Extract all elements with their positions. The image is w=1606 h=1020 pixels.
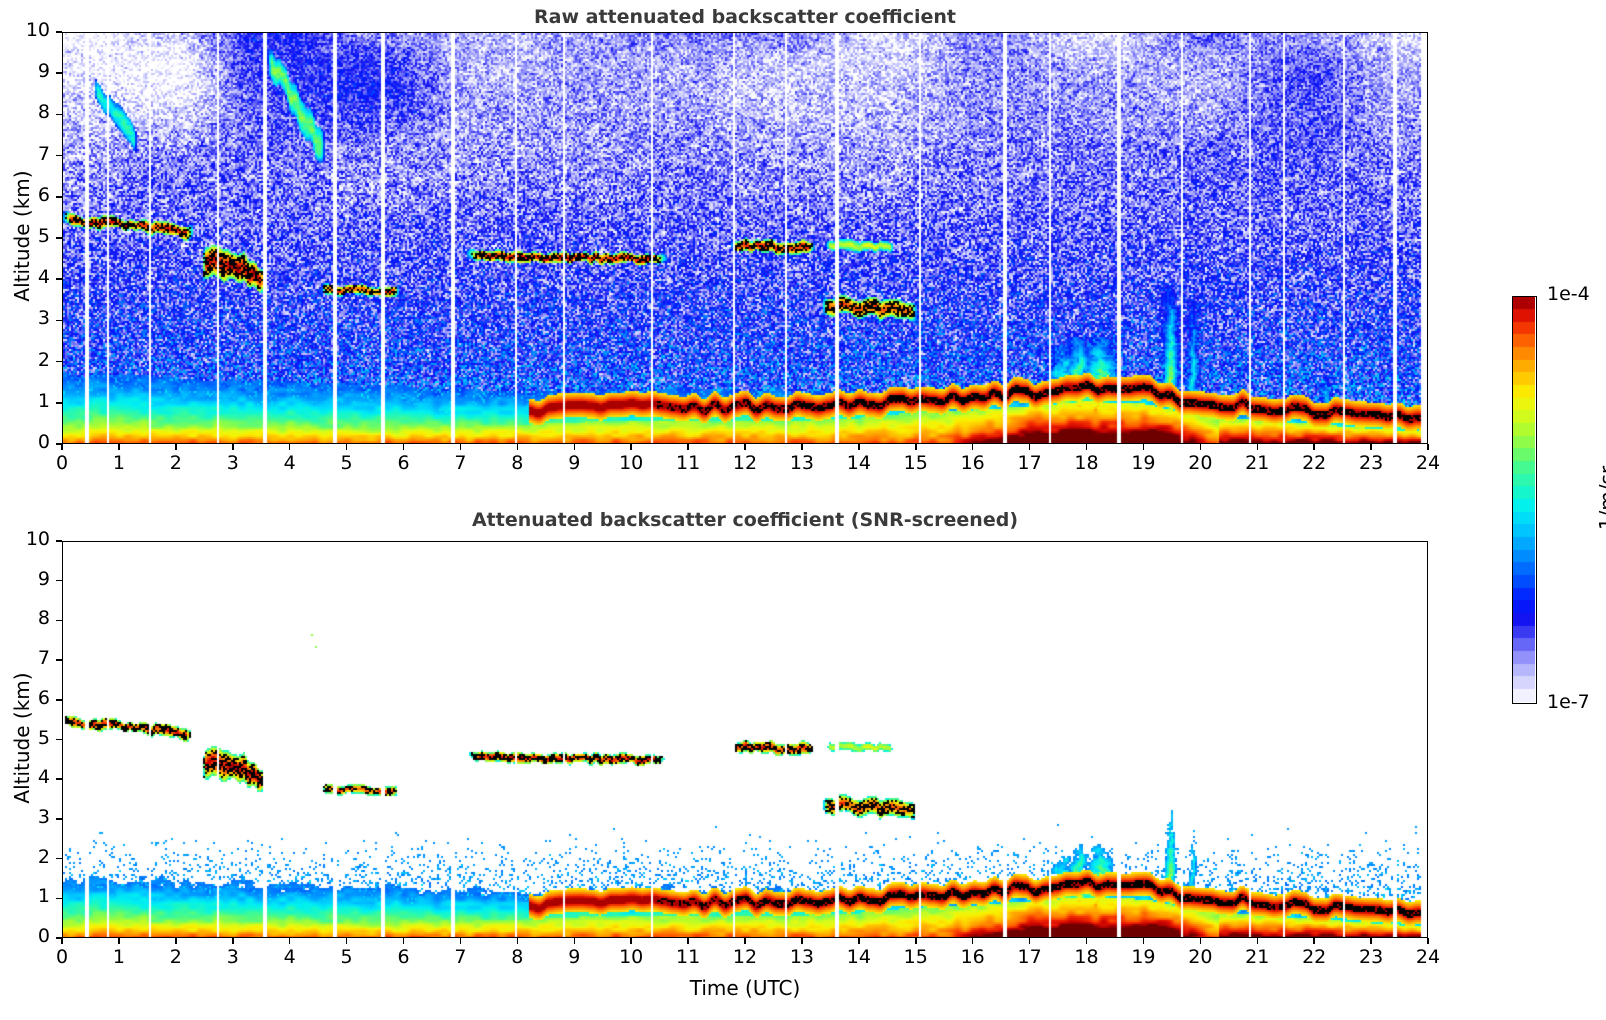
x-tick-label-screened-24: 24: [1398, 946, 1458, 968]
x-tick-label-raw-24: 24: [1398, 452, 1458, 474]
y-tick-mark-screened-1: [56, 898, 62, 900]
y-tick-mark-raw-10: [56, 31, 62, 33]
x-tick-label-screened-9: 9: [544, 946, 604, 968]
x-tick-label-raw-6: 6: [374, 452, 434, 474]
x-tick-label-screened-22: 22: [1284, 946, 1344, 968]
x-tick-mark-screened-24: [1427, 938, 1429, 944]
x-tick-label-raw-7: 7: [430, 452, 490, 474]
x-tick-mark-screened-0: [61, 938, 63, 944]
figure-canvas: Raw attenuated backscatter coefficient A…: [0, 0, 1606, 1020]
x-tick-mark-raw-13: [801, 444, 803, 450]
x-tick-label-screened-0: 0: [32, 946, 92, 968]
y-tick-label-raw-10: 10: [0, 19, 50, 41]
x-tick-mark-screened-9: [574, 938, 576, 944]
x-tick-mark-screened-7: [460, 938, 462, 944]
x-tick-mark-screened-15: [915, 938, 917, 944]
x-tick-mark-screened-19: [1143, 938, 1145, 944]
y-tick-mark-raw-2: [56, 361, 62, 363]
x-tick-label-screened-20: 20: [1170, 946, 1230, 968]
y-tick-mark-raw-4: [56, 278, 62, 280]
x-tick-label-screened-12: 12: [715, 946, 775, 968]
x-tick-mark-raw-20: [1200, 444, 1202, 450]
colorbar[interactable]: [1512, 296, 1537, 704]
x-tick-mark-raw-2: [175, 444, 177, 450]
x-tick-mark-screened-5: [346, 938, 348, 944]
x-axis-label: Time (UTC): [62, 976, 1428, 1000]
x-tick-label-screened-21: 21: [1227, 946, 1287, 968]
x-tick-mark-raw-12: [744, 444, 746, 450]
x-tick-mark-screened-1: [118, 938, 120, 944]
x-tick-label-screened-3: 3: [203, 946, 263, 968]
x-tick-mark-screened-6: [403, 938, 405, 944]
y-tick-mark-screened-7: [56, 659, 62, 661]
x-tick-label-raw-14: 14: [829, 452, 889, 474]
x-tick-mark-raw-3: [232, 444, 234, 450]
x-tick-label-screened-10: 10: [601, 946, 661, 968]
y-tick-label-screened-9: 9: [0, 568, 50, 590]
y-tick-mark-raw-5: [56, 237, 62, 239]
x-tick-label-screened-17: 17: [1000, 946, 1060, 968]
y-tick-label-screened-1: 1: [0, 885, 50, 907]
x-tick-mark-raw-16: [972, 444, 974, 450]
x-tick-mark-screened-3: [232, 938, 234, 944]
x-tick-mark-raw-17: [1029, 444, 1031, 450]
y-tick-mark-raw-7: [56, 155, 62, 157]
colorbar-tick-min: 1e-7: [1547, 691, 1590, 713]
x-tick-label-screened-18: 18: [1057, 946, 1117, 968]
x-tick-mark-raw-8: [517, 444, 519, 450]
y-axis-label-raw: Altitude (km): [10, 116, 34, 356]
y-tick-mark-raw-0: [56, 443, 62, 445]
x-tick-label-raw-11: 11: [658, 452, 718, 474]
x-tick-label-raw-3: 3: [203, 452, 263, 474]
x-tick-label-screened-5: 5: [317, 946, 377, 968]
x-tick-mark-raw-14: [858, 444, 860, 450]
y-axis-label-screened: Altitude (km): [10, 618, 34, 858]
x-tick-mark-raw-11: [687, 444, 689, 450]
x-tick-label-raw-23: 23: [1341, 452, 1401, 474]
x-tick-mark-raw-4: [289, 444, 291, 450]
x-tick-label-screened-1: 1: [89, 946, 149, 968]
y-tick-mark-screened-4: [56, 778, 62, 780]
y-tick-mark-screened-2: [56, 858, 62, 860]
x-tick-mark-raw-1: [118, 444, 120, 450]
x-tick-label-raw-19: 19: [1113, 452, 1173, 474]
y-tick-mark-screened-10: [56, 540, 62, 542]
x-tick-label-raw-5: 5: [317, 452, 377, 474]
x-tick-mark-raw-6: [403, 444, 405, 450]
x-tick-label-screened-7: 7: [430, 946, 490, 968]
x-tick-mark-screened-2: [175, 938, 177, 944]
x-tick-mark-screened-21: [1257, 938, 1259, 944]
y-tick-mark-screened-3: [56, 818, 62, 820]
colorbar-axis-label: 1/m/sr: [1595, 438, 1606, 558]
plot-area-screened[interactable]: [62, 541, 1428, 938]
x-tick-label-raw-4: 4: [260, 452, 320, 474]
x-tick-label-raw-13: 13: [772, 452, 832, 474]
x-tick-label-raw-18: 18: [1057, 452, 1117, 474]
x-tick-mark-screened-14: [858, 938, 860, 944]
x-tick-label-raw-1: 1: [89, 452, 149, 474]
x-tick-mark-raw-24: [1427, 444, 1429, 450]
x-tick-label-raw-8: 8: [487, 452, 547, 474]
x-tick-mark-screened-17: [1029, 938, 1031, 944]
x-tick-mark-raw-19: [1143, 444, 1145, 450]
x-tick-mark-screened-10: [630, 938, 632, 944]
x-tick-label-raw-16: 16: [943, 452, 1003, 474]
x-tick-mark-screened-11: [687, 938, 689, 944]
x-tick-label-screened-13: 13: [772, 946, 832, 968]
y-tick-label-raw-0: 0: [0, 431, 50, 453]
x-tick-mark-raw-21: [1257, 444, 1259, 450]
y-tick-mark-screened-9: [56, 580, 62, 582]
x-tick-mark-screened-13: [801, 938, 803, 944]
y-tick-mark-raw-6: [56, 196, 62, 198]
x-tick-label-screened-23: 23: [1341, 946, 1401, 968]
x-tick-mark-screened-20: [1200, 938, 1202, 944]
x-tick-mark-screened-4: [289, 938, 291, 944]
x-tick-mark-raw-7: [460, 444, 462, 450]
x-tick-label-screened-8: 8: [487, 946, 547, 968]
x-tick-label-raw-17: 17: [1000, 452, 1060, 474]
y-tick-mark-screened-6: [56, 699, 62, 701]
plot-area-raw[interactable]: [62, 32, 1428, 444]
panel-title-screened: Attenuated backscatter coefficient (SNR-…: [62, 509, 1428, 531]
x-tick-mark-raw-15: [915, 444, 917, 450]
x-tick-mark-screened-18: [1086, 938, 1088, 944]
x-tick-label-screened-2: 2: [146, 946, 206, 968]
y-tick-label-screened-10: 10: [0, 528, 50, 550]
x-tick-label-raw-2: 2: [146, 452, 206, 474]
x-tick-label-screened-15: 15: [886, 946, 946, 968]
x-tick-label-screened-14: 14: [829, 946, 889, 968]
y-tick-mark-screened-8: [56, 620, 62, 622]
y-tick-label-raw-1: 1: [0, 390, 50, 412]
x-tick-mark-raw-23: [1370, 444, 1372, 450]
x-tick-label-screened-19: 19: [1113, 946, 1173, 968]
x-tick-mark-screened-8: [517, 938, 519, 944]
panel-title-raw: Raw attenuated backscatter coefficient: [62, 6, 1428, 28]
x-tick-label-raw-22: 22: [1284, 452, 1344, 474]
x-tick-mark-raw-22: [1313, 444, 1315, 450]
x-tick-mark-screened-16: [972, 938, 974, 944]
x-tick-label-raw-0: 0: [32, 452, 92, 474]
x-tick-label-raw-10: 10: [601, 452, 661, 474]
x-tick-label-raw-21: 21: [1227, 452, 1287, 474]
x-tick-label-raw-9: 9: [544, 452, 604, 474]
x-tick-label-raw-15: 15: [886, 452, 946, 474]
x-tick-mark-raw-0: [61, 444, 63, 450]
x-tick-mark-raw-18: [1086, 444, 1088, 450]
x-tick-label-screened-11: 11: [658, 946, 718, 968]
x-tick-label-raw-20: 20: [1170, 452, 1230, 474]
x-tick-mark-raw-9: [574, 444, 576, 450]
y-tick-mark-raw-9: [56, 72, 62, 74]
x-tick-label-raw-12: 12: [715, 452, 775, 474]
x-tick-label-screened-16: 16: [943, 946, 1003, 968]
x-tick-mark-raw-5: [346, 444, 348, 450]
y-tick-label-raw-9: 9: [0, 60, 50, 82]
x-tick-label-screened-4: 4: [260, 946, 320, 968]
y-tick-mark-raw-1: [56, 402, 62, 404]
x-tick-mark-screened-12: [744, 938, 746, 944]
x-tick-mark-screened-22: [1313, 938, 1315, 944]
y-tick-mark-screened-5: [56, 739, 62, 741]
colorbar-tick-max: 1e-4: [1547, 283, 1590, 305]
y-tick-mark-raw-8: [56, 114, 62, 116]
x-tick-mark-raw-10: [630, 444, 632, 450]
y-tick-mark-raw-3: [56, 320, 62, 322]
x-tick-label-screened-6: 6: [374, 946, 434, 968]
y-tick-mark-screened-0: [56, 937, 62, 939]
y-tick-label-screened-0: 0: [0, 925, 50, 947]
x-tick-mark-screened-23: [1370, 938, 1372, 944]
